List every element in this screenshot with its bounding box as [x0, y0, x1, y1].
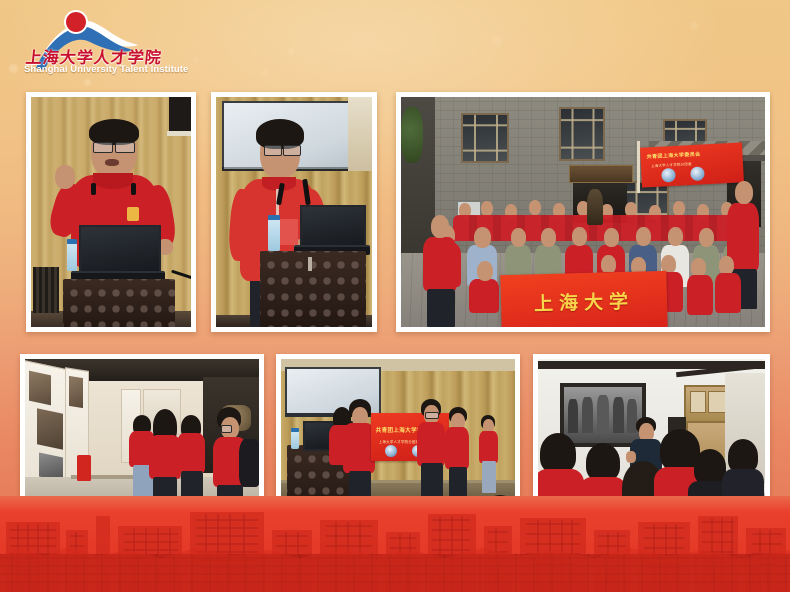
exhibit-photo [29, 371, 51, 406]
lectern [63, 279, 175, 327]
photo-guided-tour [538, 359, 765, 507]
water-bottle [67, 243, 77, 271]
visitor-head [540, 433, 576, 473]
lapel-mic [131, 183, 136, 195]
person-red-shirt [479, 431, 498, 463]
city-skyline-decoration [0, 496, 790, 592]
photo-frame-group-memorial[interactable]: 共青团上海大学委员会 上海大学人才学院分团委 [396, 92, 770, 332]
photo-flag-ceremony: 共青团上海大学委员会 上海大学人才学院分团委 [281, 359, 515, 507]
person-head [541, 228, 556, 247]
person-red-shirt [417, 422, 445, 466]
lapel-mic [91, 183, 96, 195]
building-window [461, 113, 509, 163]
person-red-shirt [445, 427, 469, 469]
person-head [474, 227, 491, 248]
person-red-shirt [715, 273, 741, 313]
flag-emblem-icon [385, 445, 397, 457]
speaker-hand-raised [55, 165, 75, 189]
bottle-cap [291, 428, 299, 432]
wall-trim [167, 131, 191, 136]
person-jeans [482, 461, 496, 493]
person-head [431, 215, 449, 238]
crowd-head [673, 201, 685, 216]
bottle-cap [268, 215, 280, 220]
person-head [636, 227, 651, 246]
banner-text: 上海大学 [500, 271, 667, 327]
laptop-screen [79, 225, 161, 277]
person-head [604, 228, 619, 247]
backpack [239, 439, 259, 487]
building-window [559, 107, 605, 161]
poster-canvas: 上海大学人才学院 Shanghai University Talent Inst… [0, 0, 790, 592]
door-plaque [569, 165, 633, 183]
student-group [125, 409, 259, 507]
speaker-mouth [105, 159, 119, 166]
institute-logo: 上海大学人才学院 Shanghai University Talent Inst… [12, 4, 188, 84]
visitor-head [728, 439, 758, 473]
person-head [735, 181, 753, 204]
crowd-head [481, 201, 493, 216]
bokeh-dot [288, 48, 295, 55]
person-legs [427, 289, 455, 327]
lectern-perforation [260, 251, 366, 327]
bokeh-dot [262, 70, 268, 76]
fire-extinguisher [77, 455, 91, 481]
photo-frame-guided-tour[interactable] [533, 354, 770, 512]
speaker-glasses-icon [93, 142, 113, 153]
visitor-head [586, 443, 620, 481]
speaker-glasses-icon [115, 142, 135, 153]
lectern-handle [308, 257, 312, 271]
organization-flag: 共青团上海大学委员会 上海大学人才学院分团委 [640, 142, 744, 187]
exhibit-photo [69, 376, 83, 408]
photo-speaker-student [216, 97, 372, 327]
bokeh-dot [193, 58, 198, 63]
visitor-crowd [538, 421, 765, 507]
person-head [699, 228, 714, 247]
person-kneeling [469, 279, 499, 313]
university-banner: 上海大学 [500, 271, 667, 327]
door-pane [690, 391, 706, 413]
foliage [401, 107, 423, 163]
bokeh-dot [492, 36, 502, 46]
student-glasses-icon [283, 145, 301, 156]
window-grid [561, 109, 603, 159]
photo-frame-flag-ceremony[interactable]: 共青团上海大学委员会 上海大学人才学院分团委 [276, 354, 520, 512]
person-head [572, 227, 587, 246]
person-head [668, 227, 683, 246]
skyline-top-fade [0, 496, 790, 512]
person-head [477, 261, 493, 281]
photo-frame-speaker-student[interactable] [211, 92, 377, 332]
flag-text: 共青团上海大学委员会 [646, 148, 736, 160]
photo-speaker-senior [31, 97, 191, 327]
paper-notes [280, 219, 298, 245]
speaker-collar [93, 173, 133, 189]
flag-emblem-icon [690, 167, 705, 182]
doorway-dark [169, 97, 191, 133]
photo-group-memorial: 共青团上海大学委员会 上海大学人才学院分团委 [401, 97, 765, 327]
person-red-shirt-left [423, 237, 457, 291]
window-grid [463, 115, 507, 161]
speaker-logo-badge [127, 207, 139, 221]
water-bottle [291, 431, 299, 449]
lectern-perforation [63, 279, 175, 327]
photo-frame-speaker-senior[interactable] [26, 92, 196, 332]
student-glasses-icon [264, 145, 282, 156]
lectern [260, 251, 366, 327]
bronze-statue [587, 189, 603, 225]
student-red-shirt [177, 433, 205, 473]
exhibit-photo [37, 408, 63, 450]
person-head [511, 228, 526, 247]
person-glasses-icon [425, 412, 439, 419]
flag-pole [637, 141, 640, 193]
student-glasses-icon [221, 425, 232, 433]
crowd-head [529, 200, 541, 215]
door-pane [708, 391, 726, 413]
flag-emblem-icon [662, 168, 677, 183]
wall-band [348, 97, 372, 171]
flag-subtext: 上海大学人才学院分团委 [651, 159, 733, 168]
photo-frame-exhibition-visit[interactable] [20, 354, 264, 512]
radiator [33, 267, 59, 313]
bottle-cap [67, 239, 77, 244]
person-red-shirt [687, 275, 713, 315]
logo-english-name: Shanghai University Talent Institute [24, 64, 188, 75]
photo-exhibition-visit [25, 359, 259, 507]
water-bottle [268, 219, 280, 251]
bokeh-dot [690, 22, 698, 30]
